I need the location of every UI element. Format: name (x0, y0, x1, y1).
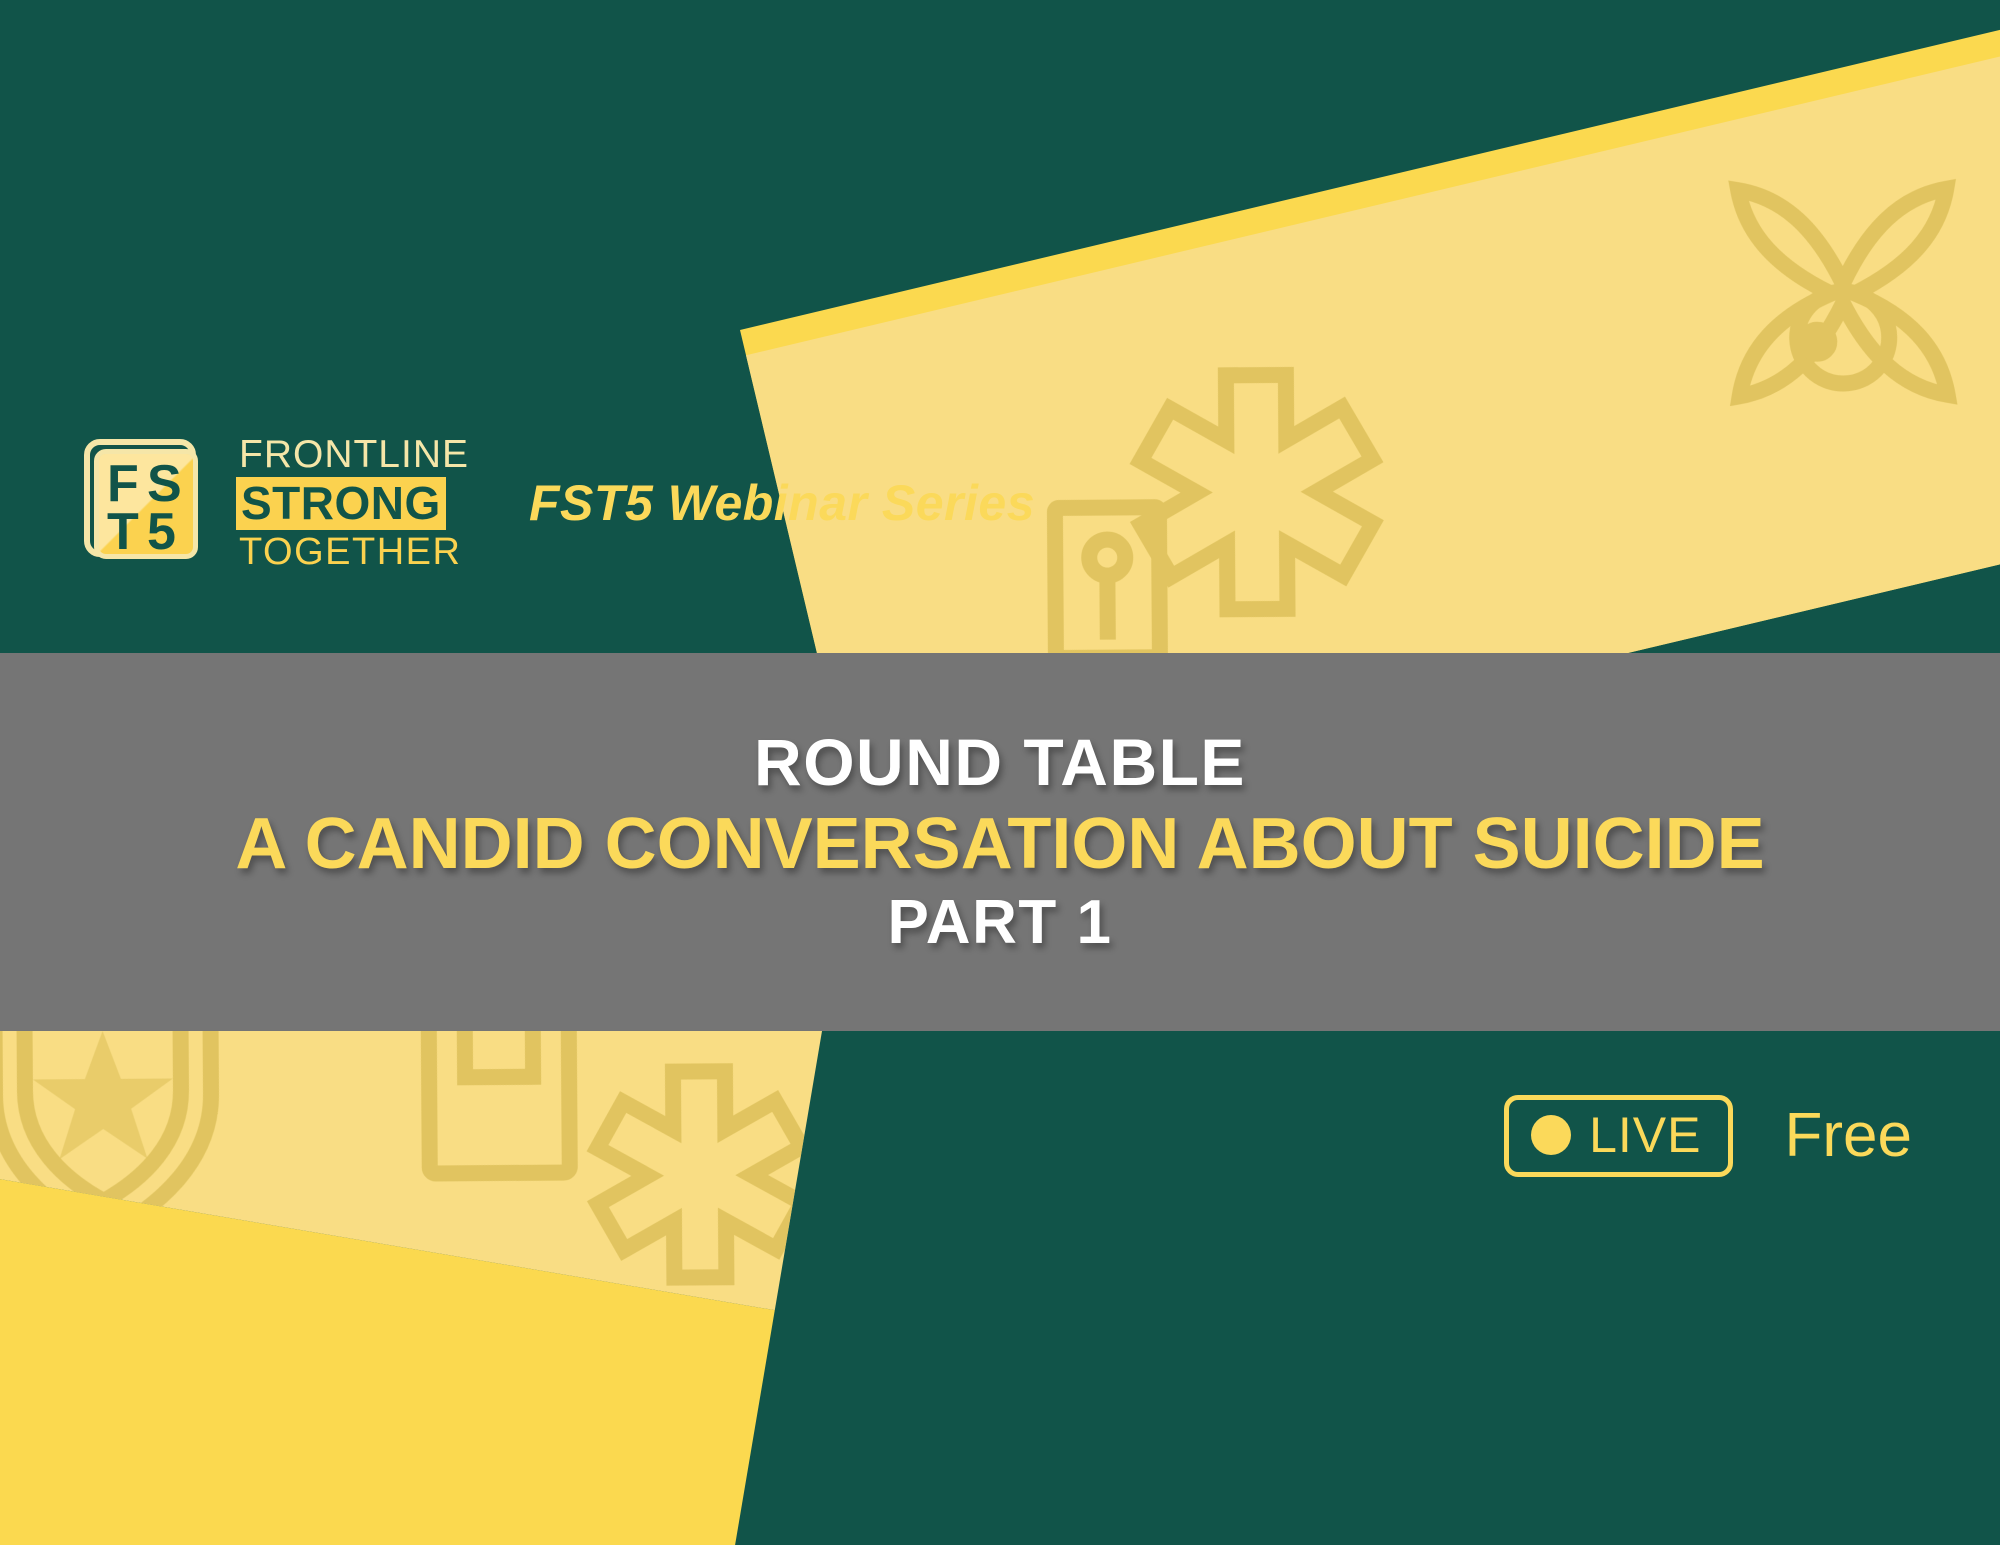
bottom-diagonal-band (0, 1010, 775, 1545)
brand-wordmark: FRONTLINE STRONG TOGETHER (236, 435, 469, 571)
live-badge[interactable]: LIVE (1504, 1095, 1732, 1177)
title-banner: ROUND TABLE A CANDID CONVERSATION ABOUT … (0, 653, 2000, 1031)
page-part-label: PART 1 (888, 890, 1113, 957)
wordmark-line-frontline: FRONTLINE (236, 435, 469, 474)
live-dot-icon (1531, 1115, 1571, 1155)
page-subtitle: A CANDID CONVERSATION ABOUT SUICIDE (235, 806, 1764, 884)
series-label: FST5 Webinar Series (529, 474, 1035, 532)
wordmark-line-strong: STRONG (236, 477, 446, 530)
price-label: Free (1785, 1105, 1912, 1167)
fst5-logo-mark-icon: F S T 5 (84, 439, 206, 567)
logo-inner-square: F S T 5 (94, 449, 198, 559)
wordmark-line-together: TOGETHER (236, 533, 461, 571)
brand-row: F S T 5 FRONTLINE STRONG TOGETHER FST5 W… (84, 435, 1035, 571)
logo-letter-5: 5 (147, 506, 176, 558)
page-title: ROUND TABLE (754, 727, 1246, 798)
footer-row: LIVE Free (1504, 1095, 1912, 1177)
webinar-promo-poster: 911 (0, 0, 2000, 1545)
live-badge-label: LIVE (1589, 1110, 1701, 1160)
logo-letter-t: T (107, 506, 139, 558)
